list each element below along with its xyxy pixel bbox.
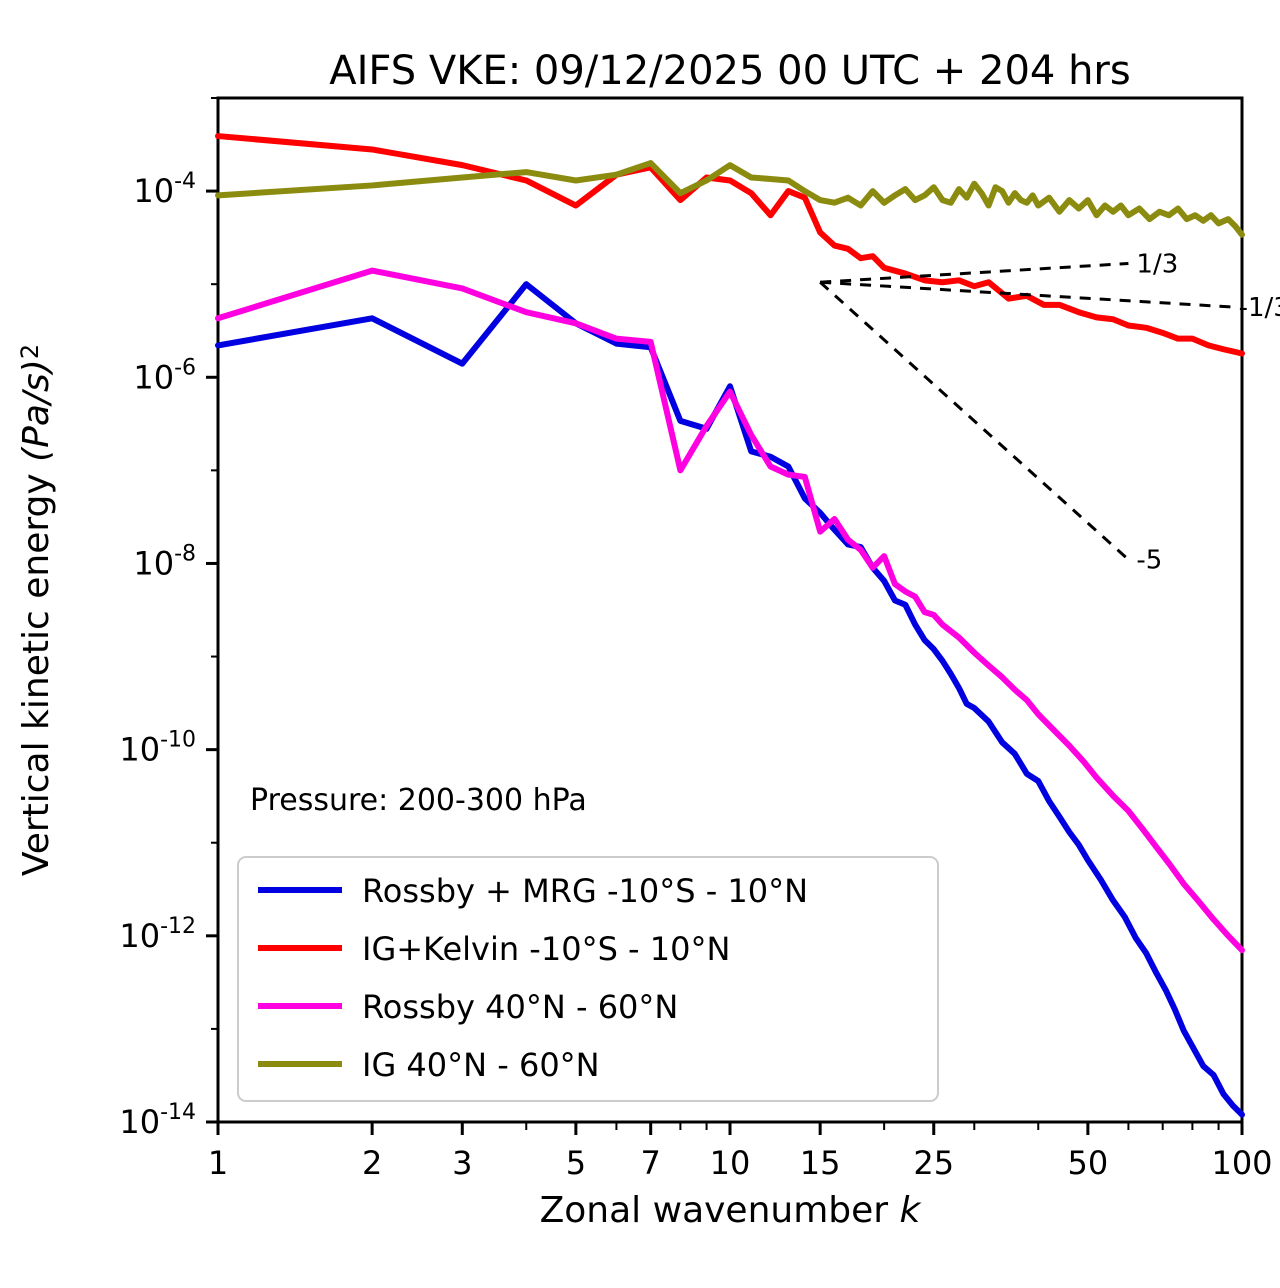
x-tick-label: 100 (1211, 1144, 1272, 1182)
x-tick-label: 3 (452, 1144, 472, 1182)
x-tick-label: 15 (800, 1144, 841, 1182)
x-tick-label: 10 (710, 1144, 751, 1182)
legend-label-3: IG 40°N - 60°N (362, 1046, 600, 1084)
x-axis-label: Zonal wavenumber k (540, 1190, 923, 1231)
vke-spectrum-chart: AIFS VKE: 09/12/2025 00 UTC + 204 hrs 10… (0, 0, 1280, 1288)
reference-line-label-2: -5 (1136, 546, 1162, 576)
legend-label-0: Rossby + MRG -10°S - 10°N (362, 872, 808, 910)
figure-container: AIFS VKE: 09/12/2025 00 UTC + 204 hrs 10… (0, 0, 1280, 1288)
pressure-annotation: Pressure: 200-300 hPa (250, 783, 587, 818)
x-tick-label: 5 (566, 1144, 586, 1182)
legend-label-2: Rossby 40°N - 60°N (362, 988, 678, 1026)
reference-line-label-0: 1/3 (1136, 249, 1178, 279)
chart-legend[interactable]: Rossby + MRG -10°S - 10°NIG+Kelvin -10°S… (238, 857, 938, 1101)
x-tick-label: 2 (362, 1144, 382, 1182)
y-axis-label: Vertical kinetic energy (Pa/s)2 (16, 344, 57, 876)
x-tick-label: 1 (208, 1144, 228, 1182)
reference-line-label-1: -1/3 (1239, 293, 1280, 323)
x-tick-label: 25 (913, 1144, 954, 1182)
x-tick-label: 7 (641, 1144, 661, 1182)
x-tick-label: 50 (1068, 1144, 1109, 1182)
chart-title: AIFS VKE: 09/12/2025 00 UTC + 204 hrs (329, 48, 1130, 94)
legend-label-1: IG+Kelvin -10°S - 10°N (362, 930, 730, 968)
